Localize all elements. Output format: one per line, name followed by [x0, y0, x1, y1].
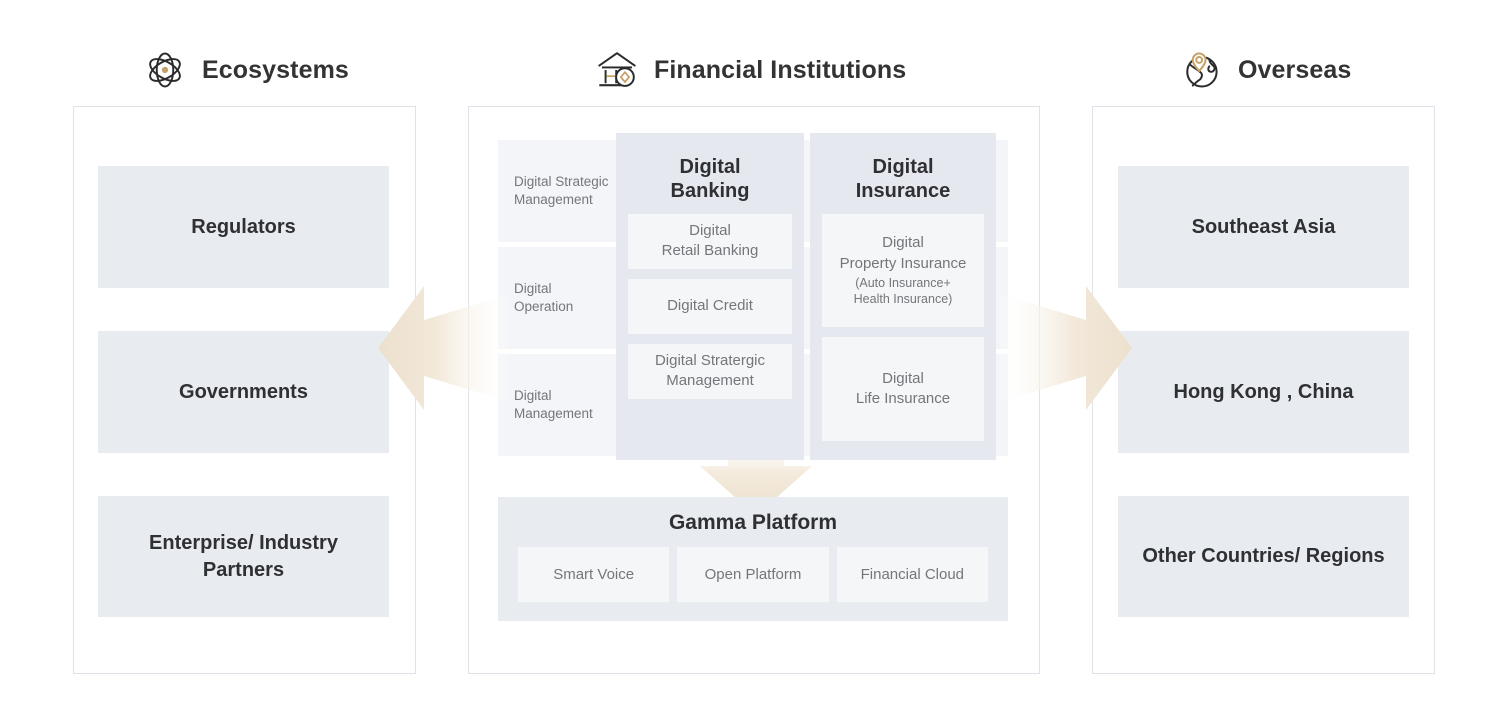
gamma-item-open-platform[interactable]: Open Platform [677, 547, 828, 602]
column-header-financial-institutions: Financial Institutions [594, 44, 906, 96]
gamma-platform-title: Gamma Platform [498, 497, 1008, 535]
column-title: Ecosystems [202, 56, 349, 85]
pillar-item-sublabel: (Auto Insurance+ Health Insurance) [854, 275, 953, 308]
overseas-card-southeast-asia[interactable]: Southeast Asia [1118, 166, 1409, 288]
column-title: Financial Institutions [654, 56, 906, 85]
column-header-overseas: Overseas [1178, 44, 1351, 96]
overseas-card-other-countries-regions[interactable]: Other Countries/ Regions [1118, 496, 1409, 617]
pillar-item-digital-life-insurance[interactable]: Digital Life Insurance [822, 337, 984, 441]
pillar-item-digital-property-insurance[interactable]: Digital Property Insurance (Auto Insuran… [822, 214, 984, 327]
pillar-item-label: Digital Stratergic Management [655, 351, 765, 392]
pillar-item-digital-stratergic-management[interactable]: Digital Stratergic Management [628, 344, 792, 399]
globe-pin-icon [1178, 47, 1224, 93]
diagram-canvas: Ecosystems Financial Institutions [0, 0, 1507, 719]
gamma-platform-item-list: Smart Voice Open Platform Financial Clou… [498, 535, 1008, 602]
ecosystems-card-enterprise-industry-partners[interactable]: Enterprise/ Industry Partners [98, 496, 389, 617]
pillar-digital-banking[interactable]: Digital Banking Digital Retail Banking D… [616, 133, 804, 460]
pillar-title: Digital Banking [616, 133, 804, 214]
pillar-item-label: Digital Property Insurance [840, 233, 967, 274]
pillar-item-digital-credit[interactable]: Digital Credit [628, 279, 792, 334]
atom-icon [142, 47, 188, 93]
overseas-card-hong-kong-china[interactable]: Hong Kong , China [1118, 331, 1409, 453]
pillar-item-label: Digital Retail Banking [662, 221, 759, 262]
gamma-item-smart-voice[interactable]: Smart Voice [518, 547, 669, 602]
ecosystems-card-governments[interactable]: Governments [98, 331, 389, 453]
ecosystems-card-regulators[interactable]: Regulators [98, 166, 389, 288]
gamma-platform-card[interactable]: Gamma Platform Smart Voice Open Platform… [498, 497, 1008, 621]
column-title: Overseas [1238, 56, 1351, 85]
pillar-item-list: Digital Retail Banking Digital Credit Di… [616, 214, 804, 411]
gamma-item-financial-cloud[interactable]: Financial Cloud [837, 547, 988, 602]
pillar-digital-insurance[interactable]: Digital Insurance Digital Property Insur… [810, 133, 996, 460]
column-header-ecosystems: Ecosystems [142, 44, 349, 96]
pillar-item-label: Digital Credit [667, 296, 753, 316]
pillar-item-label: Digital Life Insurance [856, 369, 950, 410]
bank-building-icon [594, 47, 640, 93]
pillar-item-digital-retail-banking[interactable]: Digital Retail Banking [628, 214, 792, 269]
pillar-title: Digital Insurance [810, 133, 996, 214]
pillar-item-list: Digital Property Insurance (Auto Insuran… [810, 214, 996, 453]
